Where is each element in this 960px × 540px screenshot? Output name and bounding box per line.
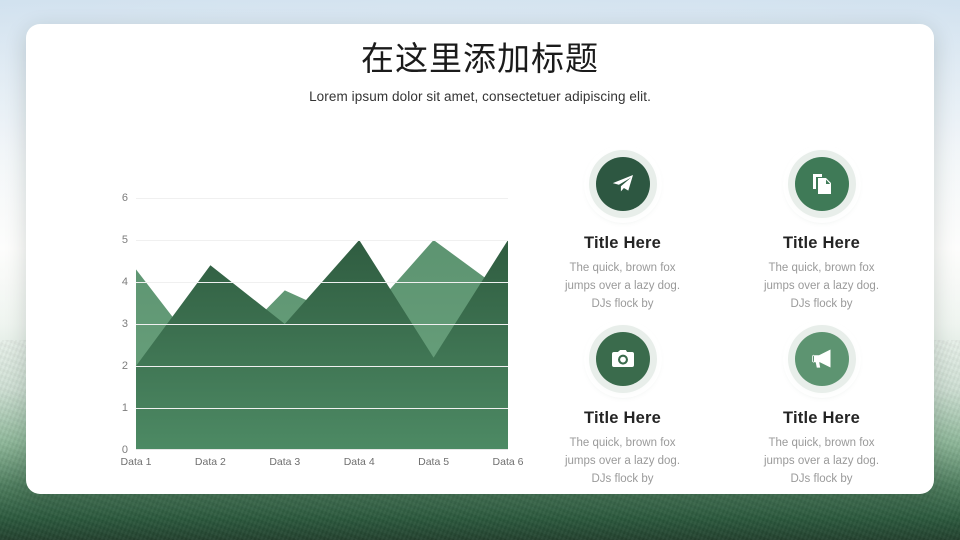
- chart-gridline: [136, 282, 508, 283]
- chart-y-tick-label: 1: [122, 402, 128, 414]
- slide-card: 在这里添加标题 Lorem ipsum dolor sit amet, cons…: [26, 24, 934, 494]
- feature-body: The quick, brown fox jumps over a lazy d…: [526, 260, 719, 313]
- icon-ring[interactable]: [788, 325, 856, 393]
- chart-x-tick-label: Data 1: [121, 456, 152, 468]
- feature-body: The quick, brown fox jumps over a lazy d…: [725, 435, 918, 488]
- chart-x-tick-label: Data 3: [269, 456, 300, 468]
- chart-gridline: [136, 366, 508, 367]
- chart-x-tick-label: Data 5: [418, 456, 449, 468]
- chart-gridline: [136, 198, 508, 199]
- chart-x-axis-labels: Data 1Data 2Data 3Data 4Data 5Data 6: [136, 456, 508, 478]
- page-title: 在这里添加标题: [26, 38, 934, 79]
- feature-item-4[interactable]: Title HereThe quick, brown fox jumps ove…: [725, 325, 918, 494]
- feature-grid: Title HereThe quick, brown fox jumps ove…: [526, 150, 918, 494]
- page-subtitle: Lorem ipsum dolor sit amet, consectetuer…: [26, 89, 934, 104]
- documents-copy-icon[interactable]: [795, 157, 849, 211]
- chart-y-tick-label: 4: [122, 276, 128, 288]
- icon-ring[interactable]: [589, 150, 657, 218]
- chart-y-tick-label: 5: [122, 234, 128, 246]
- chart-x-tick-label: Data 2: [195, 456, 226, 468]
- chart-gridline: [136, 324, 508, 325]
- icon-ring[interactable]: [589, 325, 657, 393]
- feature-body: The quick, brown fox jumps over a lazy d…: [526, 435, 719, 488]
- feature-title: Title Here: [526, 234, 719, 253]
- area-chart: 0123456 Data 1Data 2Data 3Data 4Data 5Da…: [88, 188, 518, 488]
- slide-header: 在这里添加标题 Lorem ipsum dolor sit amet, cons…: [26, 24, 934, 104]
- chart-y-tick-label: 2: [122, 360, 128, 372]
- chart-y-tick-label: 3: [122, 318, 128, 330]
- chart-gridline: [136, 408, 508, 409]
- chart-x-tick-label: Data 4: [344, 456, 375, 468]
- chart-x-tick-label: Data 6: [493, 456, 524, 468]
- feature-title: Title Here: [725, 409, 918, 428]
- feature-item-1[interactable]: Title HereThe quick, brown fox jumps ove…: [526, 150, 719, 325]
- chart-plot-area: 0123456: [136, 198, 508, 450]
- feature-item-2[interactable]: Title HereThe quick, brown fox jumps ove…: [725, 150, 918, 325]
- feature-title: Title Here: [725, 234, 918, 253]
- chart-gridline: [136, 240, 508, 241]
- chart-y-tick-label: 6: [122, 192, 128, 204]
- feature-body: The quick, brown fox jumps over a lazy d…: [725, 260, 918, 313]
- chart-y-tick-label: 0: [122, 444, 128, 456]
- megaphone-icon[interactable]: [795, 332, 849, 386]
- paper-plane-icon[interactable]: [596, 157, 650, 211]
- feature-item-3[interactable]: Title HereThe quick, brown fox jumps ove…: [526, 325, 719, 494]
- feature-title: Title Here: [526, 409, 719, 428]
- icon-ring[interactable]: [788, 150, 856, 218]
- chart-baseline: [136, 449, 508, 450]
- camera-icon[interactable]: [596, 332, 650, 386]
